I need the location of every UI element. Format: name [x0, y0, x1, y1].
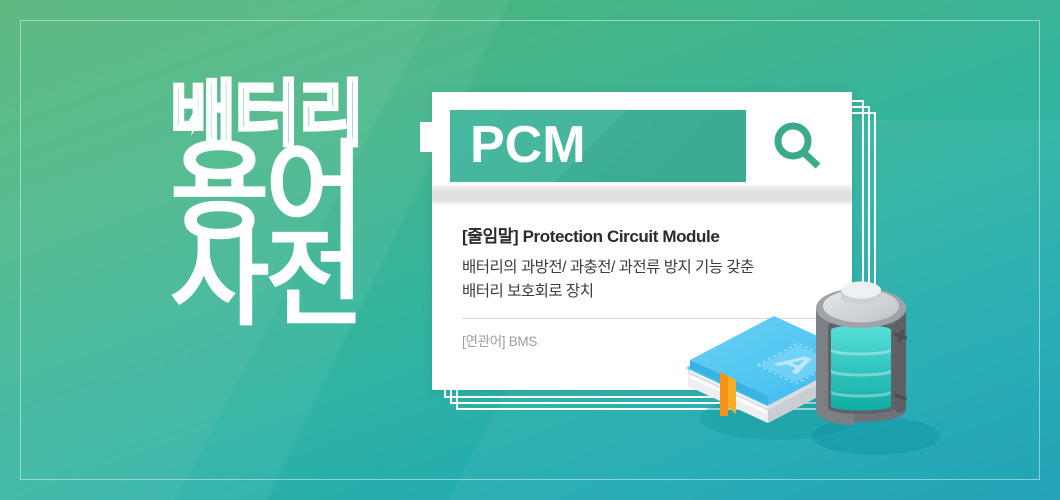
search-button[interactable] — [768, 118, 828, 176]
battery-glossary-banner: 배터리 용어 사전 PCM [줄임말] Protection Circuit M… — [0, 0, 1060, 500]
search-query-text: PCM — [470, 119, 586, 171]
search-icon — [768, 118, 828, 176]
battery-icon — [816, 282, 907, 426]
definition-title: [줄임말] Protection Circuit Module — [462, 222, 828, 247]
search-row: PCM — [450, 110, 834, 182]
battery-charge-segments — [831, 326, 891, 411]
lightning-bolt-icon — [187, 104, 205, 136]
search-input[interactable]: PCM — [450, 110, 746, 182]
battery-shadow — [812, 417, 940, 455]
headline-group: 배터리 용어 사전 — [170, 82, 430, 327]
illustration-group: A — [668, 268, 988, 468]
headline-line-battery: 배터리 — [170, 82, 430, 148]
card-divider-band — [432, 185, 852, 205]
headline-line-dictionary: 사전 — [170, 228, 430, 327]
